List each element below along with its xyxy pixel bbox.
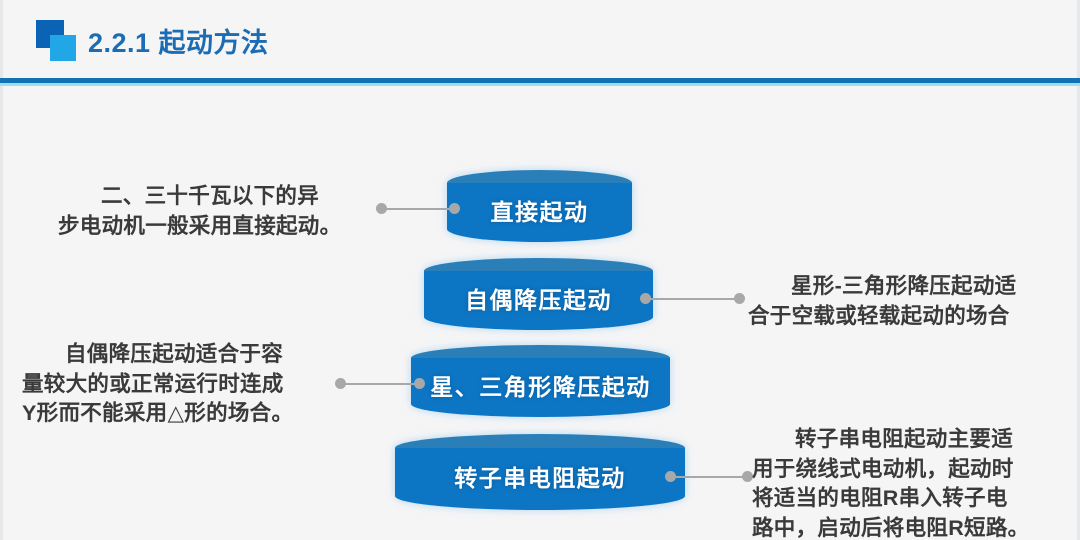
cylinder-label: 直接起动 [447, 193, 632, 227]
cylinder-label: 转子串电阻起动 [395, 459, 685, 493]
slide-header: 2.2.1 起动方法 [0, 0, 1080, 80]
connector-dot-inner-rotor-resistance [665, 471, 676, 482]
callout-line: 自偶降压起动适合于容 [22, 340, 337, 370]
callout-line: 量较大的或正常运行时连成 [22, 370, 337, 400]
connector-dot-inner-star-delta [414, 378, 425, 389]
logo-light-square [50, 35, 76, 61]
connector-dot-outer-autotransformer [734, 293, 745, 304]
callout-line: 转子串电阻起动主要适 [752, 425, 1067, 455]
header-divider-highlight [0, 83, 1080, 86]
callout-star-delta-note: 星形-三角形降压起动适 合于空载或轻载起动的场合 [748, 272, 1058, 331]
connector-dot-inner-autotransformer [640, 293, 651, 304]
callout-direct-start-note: 二、三十千瓦以下的异 步电动机一般采用直接起动。 [58, 182, 378, 241]
cylinder-direct-start[interactable]: 直接起动 [447, 170, 632, 242]
callout-line: 步电动机一般采用直接起动。 [58, 212, 378, 242]
connector-line-direct-start [381, 208, 457, 210]
connector-line-rotor-resistance [670, 476, 748, 478]
callout-line: 将适当的电阻R串入转子电 [752, 484, 1067, 514]
callout-line: 星形-三角形降压起动适 [748, 272, 1058, 302]
connector-dot-inner-direct-start [449, 203, 460, 214]
page-title: 2.2.1 起动方法 [88, 21, 269, 60]
connector-line-star-delta [340, 383, 420, 385]
callout-autotransformer-note: 自偶降压起动适合于容 量较大的或正常运行时连成 Y形而不能采用△形的场合。 [22, 340, 337, 429]
cylinder-rotor-resistance-start[interactable]: 转子串电阻起动 [395, 434, 685, 510]
callout-line: Y形而不能采用△形的场合。 [22, 399, 337, 429]
cylinder-autotransformer-start[interactable]: 自偶降压起动 [424, 258, 653, 330]
cylinder-label: 星、三角形降压起动 [411, 368, 670, 402]
connector-line-autotransformer [645, 298, 741, 300]
slide-canvas: 2.2.1 起动方法 直接起动 自偶降压起动 星、三角形降压起动 转子串电阻起动 [0, 0, 1080, 540]
cylinder-star-delta-start[interactable]: 星、三角形降压起动 [411, 345, 670, 417]
callout-line: 合于空载或轻载起动的场合 [748, 302, 1058, 332]
cylinder-label: 自偶降压起动 [424, 281, 653, 315]
logo-squares-icon [34, 18, 82, 64]
callout-line: 用于绕线式电动机，起动时 [752, 455, 1067, 485]
callout-rotor-resistance-note: 转子串电阻起动主要适 用于绕线式电动机，起动时 将适当的电阻R串入转子电 路中，… [752, 425, 1067, 540]
callout-line: 路中，启动后将电阻R短路。 [752, 514, 1067, 540]
callout-line: 二、三十千瓦以下的异 [58, 182, 378, 212]
